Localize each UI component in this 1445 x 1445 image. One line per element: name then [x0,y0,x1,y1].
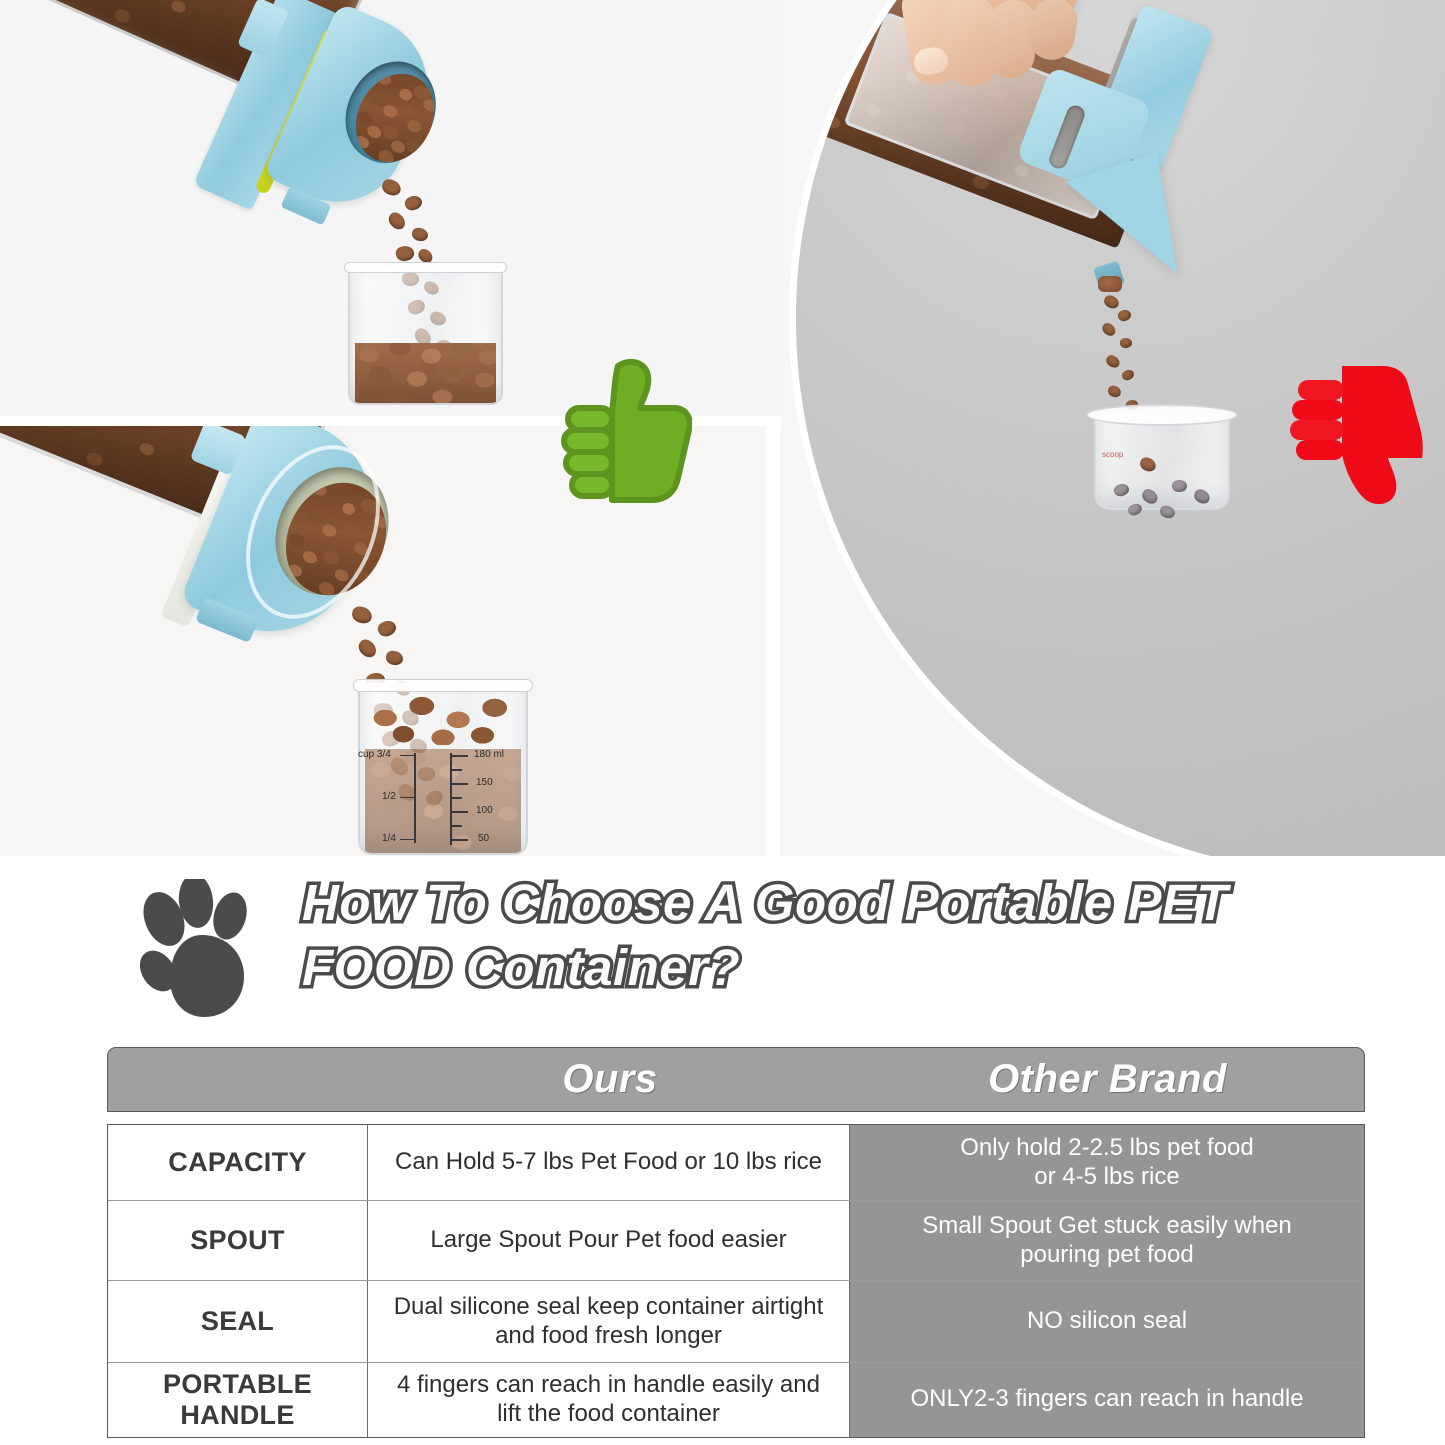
table-body: CAPACITY Can Hold 5-7 lbs Pet Food or 10… [107,1124,1365,1438]
page-title-line1: How To Choose A Good Portable PET [302,874,1228,931]
falling-kibble [376,618,399,640]
thumbs-up-icon [560,358,692,506]
row-ours-portable-handle: 4 fingers can reach in handle easily and… [368,1363,850,1437]
falling-kibble [355,637,379,661]
kibble-at-spout-tip [1098,276,1122,292]
cup-scale-label-cup-three-quarter: cup 3/4 [358,750,391,760]
cup-scale-tick [452,769,462,771]
cup-scale-label-150: 150 [476,778,493,788]
measuring-cup-rim [344,262,507,273]
falling-kibble [380,177,403,197]
cup-scale-tick [452,811,468,813]
other-brand-cup-scale-text: scoop [1102,450,1123,459]
paw-print-icon [140,879,270,1019]
table-row: PORTABLEHANDLE 4 fingers can reach in ha… [108,1363,1364,1437]
cup-scale-lead [400,755,416,756]
cup-scale-tick [452,797,462,799]
measuring-cup [348,265,503,405]
cup-scale-tick [452,825,462,827]
row-ours-capacity: Can Hold 5-7 lbs Pet Food or 10 lbs rice [368,1125,850,1200]
title-section: How To Choose A Good Portable PET FOOD C… [0,856,1445,1041]
falling-kibble [403,193,424,213]
cup-scale-label-one-half: 1/2 [382,792,396,802]
table-row: SPOUT Large Spout Pour Pet food easier S… [108,1201,1364,1281]
falling-kibble [386,210,409,232]
cup-scale-left-bracket [414,753,416,843]
table-row: CAPACITY Can Hold 5-7 lbs Pet Food or 10… [108,1125,1364,1201]
row-other-spout: Small Spout Get stuck easily whenpouring… [850,1201,1364,1280]
row-ours-seal: Dual silicone seal keep container airtig… [368,1281,850,1362]
falling-kibble [385,650,403,666]
table-header-ours-cell: Ours [369,1048,851,1111]
table-row: SEAL Dual silicone seal keep container a… [108,1281,1364,1363]
cup-scale-tick [452,783,468,785]
table-header-other-cell: Other Brand [851,1048,1364,1111]
table-header-gap [107,1112,1365,1124]
page-title: How To Choose A Good Portable PET FOOD C… [302,870,1387,1001]
row-feature-spout: SPOUT [108,1201,368,1280]
page-title-line2: FOOD Container? [302,939,740,996]
photo-vertical-divider [766,416,780,856]
comparison-table: Ours Other Brand CAPACITY Can Hold 5-7 l… [107,1047,1365,1438]
thumbs-down-icon [1286,362,1426,506]
table-header-row: Ours Other Brand [107,1047,1365,1112]
cup-scale-label-100: 100 [476,806,493,816]
cup-kibble-top [367,685,520,745]
cup-scale-vertical-bar [450,753,452,845]
cup-scale-label-one-quarter: 1/4 [382,834,396,844]
row-other-capacity: Only hold 2-2.5 lbs pet foodor 4-5 lbs r… [850,1125,1364,1200]
table-header-other-label: Other Brand [851,1048,1364,1111]
cup-scale-lead [400,797,416,798]
cup-kibble [355,343,497,403]
photo-montage: cup 3/4 1/2 1/4 180 ml 150 100 50 [0,0,1445,856]
falling-kibble [350,605,373,625]
table-header-ours-label: Ours [369,1048,851,1111]
cup-scale-tick [452,839,468,841]
row-feature-capacity: CAPACITY [108,1125,368,1200]
row-other-seal: NO silicon seal [850,1281,1364,1362]
row-other-portable-handle: ONLY2-3 fingers can reach in handle [850,1363,1364,1437]
measuring-cup [358,683,528,855]
other-brand-cup-rim [1086,404,1238,426]
cup-scale-tick [452,755,468,757]
row-feature-seal: SEAL [108,1281,368,1362]
table-header-feature-label [108,1048,369,1111]
cup-scale-label-180ml: 180 ml [474,750,504,760]
measuring-cup-rim [353,679,533,692]
table-header-feature-cell [108,1048,369,1111]
row-ours-spout: Large Spout Pour Pet food easier [368,1201,850,1280]
photo-top-left-ours [0,0,778,418]
falling-kibble [394,244,415,263]
cup-scale-label-50: 50 [478,834,489,844]
row-feature-portable-handle: PORTABLEHANDLE [108,1363,368,1437]
cup-scale-lead [400,839,416,840]
falling-kibble [411,227,429,242]
